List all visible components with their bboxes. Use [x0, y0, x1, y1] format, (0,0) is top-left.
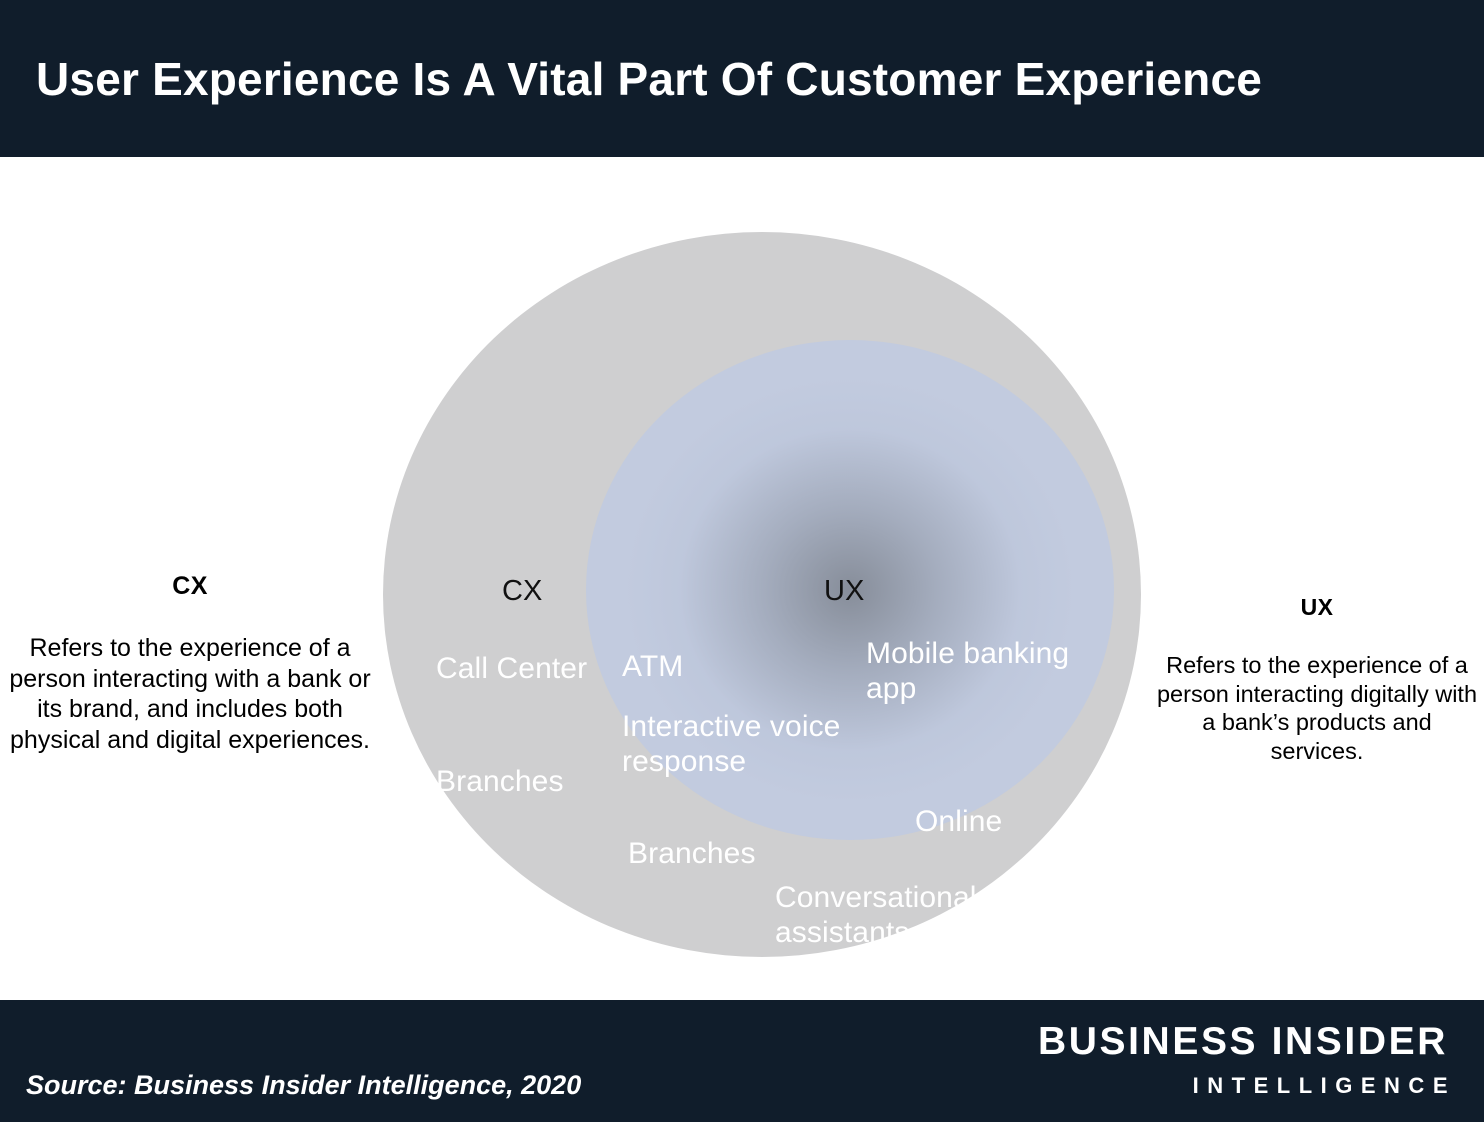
business-insider-logo: BUSINESS INSIDER INTELLIGENCE — [1038, 1022, 1448, 1099]
header-bar: User Experience Is A Vital Part Of Custo… — [0, 0, 1484, 157]
footer-bar: Source: Business Insider Intelligence, 2… — [0, 1000, 1484, 1122]
ux-circle-label: UX — [824, 575, 864, 608]
ux-item-conversational-assistants: Conversational assistants — [775, 881, 1025, 951]
ux-item-interactive-voice-response: Interactive voice response — [622, 710, 872, 780]
diagram-stage: CX UX Call Center Branches ATM Interacti… — [0, 157, 1484, 1000]
cx-item-call-center: Call Center — [436, 652, 596, 687]
source-caption: Source: Business Insider Intelligence, 2… — [26, 1070, 581, 1101]
ux-item-branches: Branches — [628, 837, 828, 872]
cx-item-branches: Branches — [436, 765, 636, 800]
ux-item-mobile-banking-app: Mobile banking app — [866, 637, 1116, 707]
cx-definition-block: CX Refers to the experience of a person … — [6, 572, 374, 755]
brand-subtitle: INTELLIGENCE — [1038, 1073, 1456, 1099]
cx-definition-heading: CX — [6, 572, 374, 601]
ux-item-atm: ATM — [622, 650, 782, 685]
ux-item-online: Online — [915, 805, 1075, 840]
ux-definition-heading: UX — [1156, 594, 1478, 621]
brand-name: BUSINESS INSIDER — [1038, 1022, 1448, 1063]
ux-definition-body: Refers to the experience of a person int… — [1156, 651, 1478, 766]
page-title: User Experience Is A Vital Part Of Custo… — [0, 52, 1262, 106]
cx-definition-body: Refers to the experience of a person int… — [6, 633, 374, 755]
ux-definition-block: UX Refers to the experience of a person … — [1156, 594, 1478, 766]
cx-circle-label: CX — [502, 575, 542, 608]
